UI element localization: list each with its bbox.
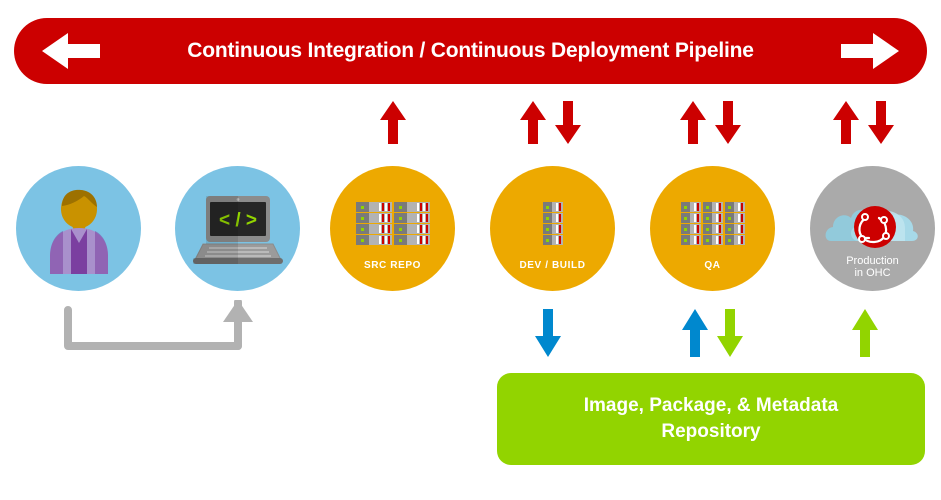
person-icon	[40, 188, 118, 274]
node-label-production-line2: in OHC	[854, 267, 890, 279]
node-qa[interactable]: QA	[650, 166, 775, 291]
node-src-repo[interactable]: SRC REPO	[330, 166, 455, 291]
pipeline-banner: Continuous Integration / Continuous Depl…	[14, 18, 927, 84]
pipeline-arrow-qa-down	[713, 100, 743, 145]
repository-label: Image, Package, & Metadata Repository	[584, 393, 839, 445]
pipeline-arrow-dev-build-up	[518, 100, 548, 145]
node-label-production-line1: Production	[846, 255, 899, 267]
pipeline-title: Continuous Integration / Continuous Depl…	[14, 39, 927, 63]
repository-label-line1: Image, Package, & Metadata	[584, 395, 839, 416]
server-rack-icon	[543, 202, 563, 245]
diagram-canvas: Continuous Integration / Continuous Depl…	[0, 0, 941, 500]
node-production[interactable]: Production in OHC	[810, 166, 935, 291]
repository-box[interactable]: Image, Package, & Metadata Repository	[497, 373, 925, 465]
pipeline-arrow-production-down	[866, 100, 896, 145]
node-label-qa: QA	[650, 260, 775, 272]
server-rack-icon	[681, 202, 745, 245]
node-developer[interactable]	[16, 166, 141, 291]
repository-label-line2: Repository	[661, 421, 760, 442]
node-label-src-repo: SRC REPO	[330, 260, 455, 272]
node-dev-build[interactable]: DEV / BUILD	[490, 166, 615, 291]
pipeline-arrow-production-up	[831, 100, 861, 145]
repo-arrow-qa-up	[680, 308, 710, 358]
elbow-arrow-icon	[60, 300, 260, 355]
server-rack-icon	[356, 202, 430, 245]
pipeline-arrow-qa-up	[678, 100, 708, 145]
laptop-code-icon: < / >	[193, 194, 283, 266]
node-workstation[interactable]: < / >	[175, 166, 300, 291]
repo-arrow-qa-down	[715, 308, 745, 358]
repo-arrow-dev-build-down	[533, 308, 563, 358]
pipeline-arrow-src-repo-up	[378, 100, 408, 145]
cloud-openshift-icon	[825, 186, 921, 248]
node-label-production: Production in OHC	[810, 255, 935, 279]
arrow-right-icon	[835, 29, 907, 73]
node-label-dev-build: DEV / BUILD	[490, 260, 615, 272]
pipeline-arrow-dev-build-down	[553, 100, 583, 145]
repo-arrow-production-up	[850, 308, 880, 358]
